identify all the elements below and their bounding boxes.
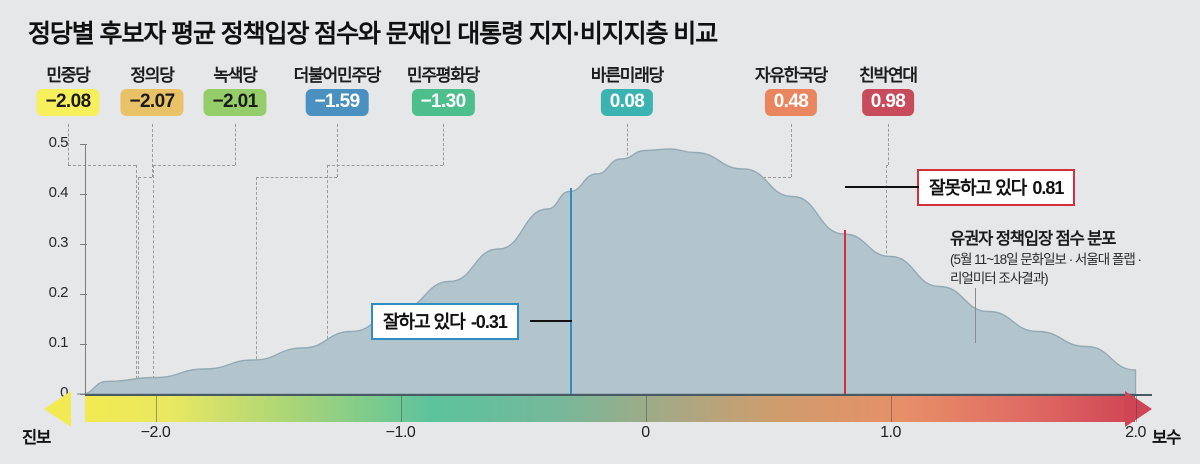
- party-name: 정의당: [120, 66, 183, 86]
- source-note-title: 유권자 정책입장 점수 분포: [950, 228, 1190, 250]
- source-note: 유권자 정책입장 점수 분포 (5월 11~18일 문화일보 · 서울대 폴랩 …: [950, 228, 1190, 288]
- party-value-pill[interactable]: 0.98: [862, 89, 915, 116]
- x-tick-label: 2.0: [1125, 424, 1146, 442]
- party-leader-segment: [138, 177, 152, 178]
- party-value-pill[interactable]: −2.07: [120, 89, 183, 116]
- ideology-spectrum-bar: [85, 396, 1152, 422]
- party-value-pill[interactable]: −1.59: [305, 89, 368, 116]
- y-tick-label: 0.3: [28, 234, 68, 251]
- marker-line-support: [570, 188, 572, 395]
- page-title: 정당별 후보자 평균 정책입장 점수와 문재인 대통령 지지·비지지층 비교: [28, 14, 717, 50]
- spectrum-arrow-left-icon: [44, 391, 71, 427]
- y-tick-mark: [80, 244, 87, 245]
- party-leader-segment: [886, 165, 887, 394]
- party-leader-segment: [153, 165, 235, 166]
- y-axis-line: [85, 144, 86, 395]
- spectrum-gradient: [85, 396, 1135, 422]
- callout-oppose-leader: [845, 186, 919, 188]
- party-name: 자유한국당: [755, 66, 827, 86]
- party-label-0[interactable]: 민중당−2.08: [36, 66, 99, 116]
- party-label-3[interactable]: 더불어민주당−1.59: [294, 66, 381, 116]
- party-label-7[interactable]: 친박연대0.98: [859, 66, 917, 116]
- party-leader-segment: [627, 124, 628, 165]
- x-tick-label: 1.0: [880, 424, 901, 442]
- party-leader-segment: [763, 177, 764, 394]
- callout-support-leader: [530, 320, 572, 322]
- party-leader-segment: [327, 165, 328, 394]
- party-leader-segment: [235, 124, 236, 165]
- callout-oppose-value: 0.81: [1032, 178, 1063, 198]
- party-leader-segment: [68, 124, 69, 165]
- spectrum-tick: [1136, 396, 1137, 422]
- source-note-line2: (5월 11~18일 문화일보 · 서울대 폴랩 ·: [950, 251, 1190, 269]
- y-tick-mark: [80, 194, 87, 195]
- x-tick-label: −1.0: [386, 424, 416, 442]
- party-label-6[interactable]: 자유한국당0.48: [755, 66, 827, 116]
- callout-oppose-label: 잘못하고 있다: [929, 178, 1026, 198]
- party-leader-segment: [138, 177, 139, 394]
- y-tick-mark: [80, 344, 87, 345]
- axis-end-label-left: 진보: [22, 424, 50, 448]
- party-value-pill[interactable]: −2.08: [36, 89, 99, 116]
- y-tick-mark: [80, 294, 87, 295]
- party-leader-segment: [337, 124, 338, 177]
- party-label-2[interactable]: 녹색당−2.01: [203, 66, 266, 116]
- party-name: 민중당: [36, 66, 99, 86]
- party-value-pill[interactable]: −2.01: [203, 89, 266, 116]
- party-leader-segment: [256, 177, 337, 178]
- spectrum-tick: [646, 396, 647, 422]
- party-leader-segment: [327, 165, 443, 166]
- source-note-leader: [975, 288, 976, 343]
- marker-line-oppose: [844, 230, 846, 394]
- party-name: 민주평화당: [407, 66, 479, 86]
- x-tick-label: −2.0: [141, 424, 171, 442]
- party-leader-segment: [68, 165, 136, 166]
- party-leader-segment: [256, 177, 257, 394]
- y-tick-label: 0.1: [28, 334, 68, 351]
- party-value-pill[interactable]: 0.08: [601, 89, 654, 116]
- party-leader-segment: [153, 165, 154, 394]
- axis-end-label-right: 보수: [1152, 424, 1180, 448]
- party-leader-segment: [888, 124, 889, 165]
- party-label-4[interactable]: 민주평화당−1.30: [407, 66, 479, 116]
- party-leader-segment: [665, 165, 666, 394]
- party-leader-segment: [627, 165, 665, 166]
- spectrum-arrow-right-icon: [1125, 391, 1152, 427]
- party-leader-segment: [791, 124, 792, 177]
- party-name: 바른미래당: [591, 66, 663, 86]
- y-tick-label: 0.5: [28, 134, 68, 151]
- party-value-pill[interactable]: 0.48: [765, 89, 818, 116]
- party-leader-segment: [136, 165, 137, 394]
- callout-oppose: 잘못하고 있다0.81: [917, 169, 1075, 206]
- spectrum-tick: [156, 396, 157, 422]
- source-note-line3: 리얼미터 조사결과): [950, 270, 1190, 288]
- party-label-5[interactable]: 바른미래당0.08: [591, 66, 663, 116]
- party-label-1[interactable]: 정의당−2.07: [120, 66, 183, 116]
- x-tick-label: 0: [641, 424, 649, 442]
- party-name: 녹색당: [203, 66, 266, 86]
- party-leader-segment: [763, 177, 791, 178]
- callout-support-value: -0.31: [471, 312, 507, 332]
- y-tick-mark: [80, 144, 87, 145]
- y-tick-label: 0.4: [28, 184, 68, 201]
- party-leader-segment: [443, 124, 444, 165]
- spectrum-tick: [401, 396, 402, 422]
- callout-support-label: 잘하고 있다: [383, 312, 465, 332]
- callout-support: 잘하고 있다-0.31: [371, 303, 519, 340]
- party-name: 더불어민주당: [294, 66, 381, 86]
- y-tick-label: 0.2: [28, 284, 68, 301]
- party-value-pill[interactable]: −1.30: [411, 89, 474, 116]
- spectrum-tick: [891, 396, 892, 422]
- party-name: 친박연대: [859, 66, 917, 86]
